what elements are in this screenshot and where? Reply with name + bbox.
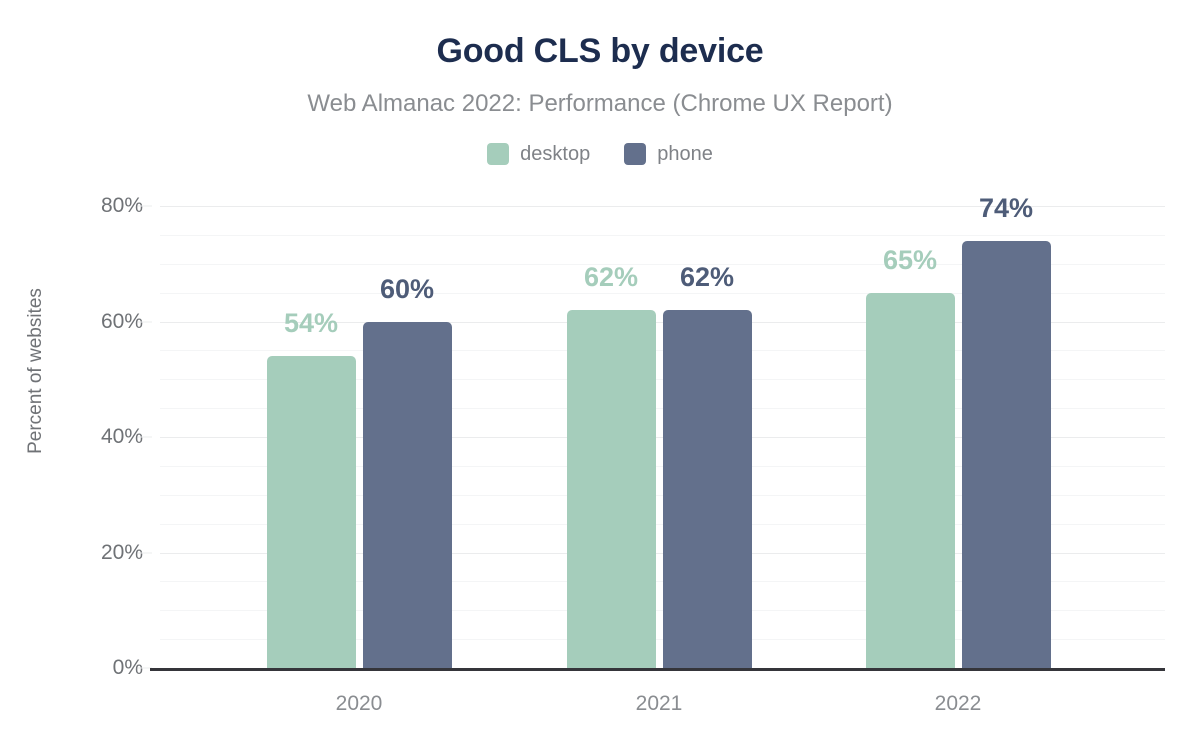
y-axis-tick-label: 20% (23, 541, 143, 565)
bar-value-label-phone-2021: 62% (680, 262, 734, 293)
legend-item-phone[interactable]: phone (624, 143, 713, 165)
x-axis-baseline (150, 668, 1165, 671)
plot-area: 54%60%62%62%65%74% 0%20%40%60%80% 202020… (160, 206, 1165, 668)
legend-swatch-phone (624, 143, 646, 165)
y-axis-tick-label: 60% (23, 310, 143, 334)
legend-label-phone: phone (657, 144, 713, 164)
bar-value-label-desktop-2022: 65% (883, 245, 937, 276)
bar-value-label-phone-2022: 74% (979, 193, 1033, 224)
chart-legend: desktop phone (0, 143, 1200, 165)
bar-phone-2020[interactable] (363, 322, 452, 669)
bar-phone-2022[interactable] (962, 241, 1051, 668)
y-axis-tick-label: 0% (23, 656, 143, 680)
bar-desktop-2022[interactable] (866, 293, 955, 668)
y-axis-tick-mark (138, 206, 152, 207)
bar-desktop-2021[interactable] (567, 310, 656, 668)
bar-value-label-phone-2020: 60% (380, 274, 434, 305)
y-axis-tick-label: 80% (23, 194, 143, 218)
x-axis-tick-label-2022: 2022 (935, 692, 982, 716)
y-axis-tick-mark (138, 437, 152, 438)
bar-value-label-desktop-2020: 54% (284, 308, 338, 339)
legend-label-desktop: desktop (520, 144, 590, 164)
x-axis-tick-label-2021: 2021 (636, 692, 683, 716)
bar-desktop-2020[interactable] (267, 356, 356, 668)
chart-container: Good CLS by device Web Almanac 2022: Per… (0, 0, 1200, 742)
y-axis-tick-mark (138, 321, 152, 322)
legend-item-desktop[interactable]: desktop (487, 143, 590, 165)
chart-title: Good CLS by device (0, 32, 1200, 71)
legend-swatch-desktop (487, 143, 509, 165)
bar-value-label-desktop-2021: 62% (584, 262, 638, 293)
bar-phone-2021[interactable] (663, 310, 752, 668)
y-axis-tick-label: 40% (23, 425, 143, 449)
bars-layer: 54%60%62%62%65%74% (160, 206, 1165, 668)
x-axis-tick-label-2020: 2020 (336, 692, 383, 716)
chart-subtitle: Web Almanac 2022: Performance (Chrome UX… (0, 90, 1200, 118)
y-axis-tick-mark (138, 552, 152, 553)
